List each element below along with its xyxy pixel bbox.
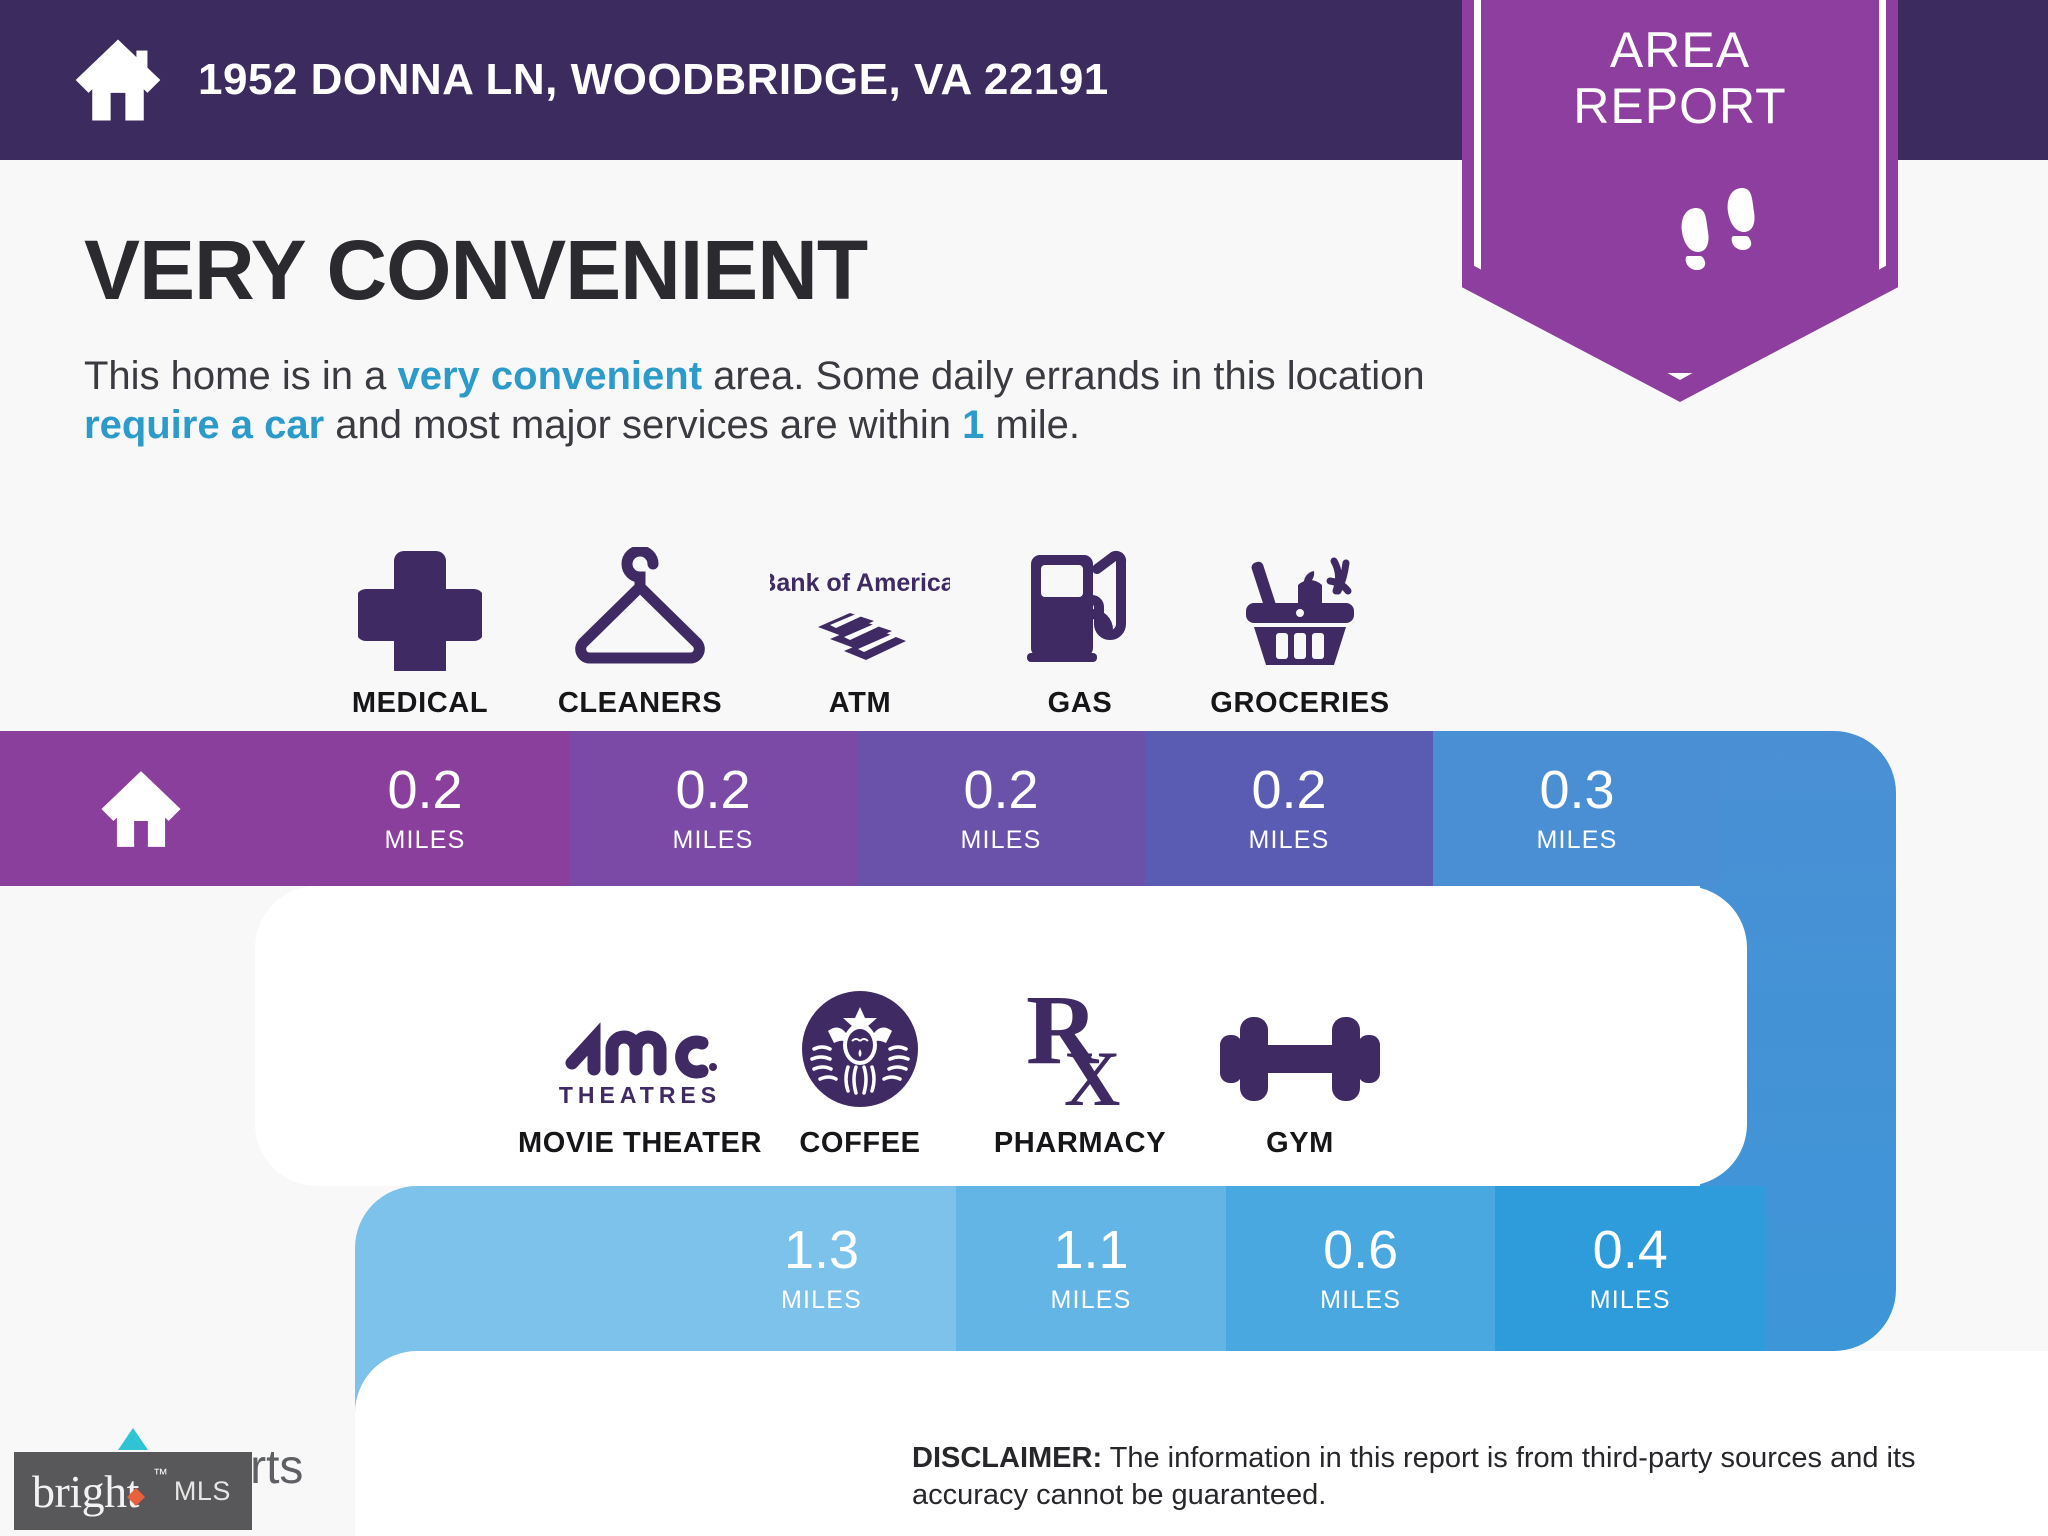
distance-cell-spacer — [565, 1186, 687, 1351]
distance-unit: MILES — [1248, 826, 1329, 855]
category-label: GROCERIES — [1210, 687, 1389, 720]
distance-value: 1.3 — [784, 1223, 859, 1277]
svg-text:Bank of America.: Bank of America. — [770, 569, 950, 597]
row1-icon-headers: MEDICAL CLEANERS Bank of America. — [0, 520, 1860, 720]
summary-paragraph: This home is in a very convenient area. … — [84, 352, 1484, 450]
distance-unit: MILES — [672, 826, 753, 855]
distance-cell-atm: 0.2 MILES — [857, 731, 1145, 886]
category-label: MEDICAL — [352, 687, 488, 720]
distance-cell-coffee: 1.1 MILES — [956, 1186, 1226, 1351]
distance-value: 0.3 — [1539, 763, 1614, 817]
distance-cell-medical: 0.2 MILES — [281, 731, 569, 886]
footprints-icon — [1662, 178, 1782, 274]
category-header-gym: GYM — [1156, 960, 1444, 1160]
home-icon — [72, 34, 164, 126]
distance-unit: MILES — [1536, 826, 1617, 855]
gas-pump-icon — [1015, 541, 1145, 671]
distance-bar-row-1: 0.2 MILES 0.2 MILES 0.2 MILES 0.2 MILES … — [0, 731, 1896, 886]
area-report-page: 1952 DONNA LN, WOODBRIDGE, VA 22191 AREA… — [0, 0, 2048, 1536]
distance-cell-movie-theater: 1.3 MILES — [687, 1186, 957, 1351]
bright-mls-accent-triangle — [118, 1428, 148, 1450]
distance-unit: MILES — [781, 1286, 862, 1315]
badge-line-1: AREA — [1462, 22, 1898, 78]
summary-highlight-2: require a car — [84, 403, 324, 447]
summary-part-2: area. Some daily errands in this locatio… — [702, 354, 1425, 398]
distance-bar-2-left-cap — [355, 1186, 595, 1351]
home-icon — [98, 766, 184, 852]
logo-bright-text: bright — [32, 1465, 139, 1518]
distance-value: 0.2 — [963, 763, 1038, 817]
category-header-groceries: GROCERIES — [1156, 520, 1444, 720]
dumbbell-icon — [1210, 981, 1390, 1111]
category-label: CLEANERS — [558, 687, 722, 720]
bright-mls-logo: bright ™ MLS — [14, 1452, 252, 1530]
category-label: ATM — [829, 687, 891, 720]
category-label: GAS — [1048, 687, 1113, 720]
medical-cross-icon — [358, 541, 482, 671]
distance-cell-cleaners: 0.2 MILES — [569, 731, 857, 886]
property-address: 1952 DONNA LN, WOODBRIDGE, VA 22191 — [198, 55, 1109, 105]
distance-cell-groceries: 0.3 MILES — [1433, 731, 1721, 886]
badge-line-2: REPORT — [1462, 78, 1898, 134]
distance-value: 1.1 — [1054, 1223, 1129, 1277]
category-label: PHARMACY — [994, 1127, 1166, 1160]
distance-unit: MILES — [384, 826, 465, 855]
distance-value: 0.4 — [1593, 1223, 1668, 1277]
bar-home-cell — [0, 731, 281, 886]
rx-icon: R X — [1020, 981, 1140, 1111]
logo-trademark: ™ — [153, 1466, 168, 1483]
category-label: COFFEE — [799, 1127, 920, 1160]
logo-diamond-icon — [127, 1479, 145, 1497]
distance-value: 0.2 — [675, 763, 750, 817]
row2-icon-headers: THEATRES MOVIE THEATER — [0, 960, 1860, 1160]
disclaimer-label: DISCLAIMER: — [912, 1442, 1102, 1474]
summary-highlight-3: 1 — [962, 403, 984, 447]
disclaimer-text: DISCLAIMER: The information in this repo… — [912, 1440, 2022, 1513]
distance-unit: MILES — [1051, 1286, 1132, 1315]
grocery-basket-icon — [1230, 541, 1370, 671]
svg-text:THEATRES: THEATRES — [559, 1082, 721, 1108]
clothes-hanger-icon — [565, 541, 715, 671]
category-label: GYM — [1266, 1127, 1334, 1160]
summary-part-4: mile. — [984, 403, 1080, 447]
summary-part-3: and most major services are within — [324, 403, 962, 447]
distance-bar-row-2: 1.3 MILES 1.1 MILES 0.6 MILES 0.4 MILES — [565, 1186, 1765, 1351]
distance-value: 0.2 — [387, 763, 462, 817]
summary-part-1: This home is in a — [84, 354, 397, 398]
badge-text-block: AREA REPORT — [1462, 22, 1898, 134]
logo-mls-text: MLS — [174, 1476, 231, 1507]
distance-value: 0.2 — [1251, 763, 1326, 817]
bank-of-america-logo: Bank of America. — [770, 541, 950, 671]
starbucks-logo — [798, 981, 922, 1111]
summary-highlight-1: very convenient — [397, 354, 702, 398]
amc-theatres-logo: THEATRES — [550, 981, 730, 1111]
distance-value: 0.6 — [1323, 1223, 1398, 1277]
distance-cell-gas: 0.2 MILES — [1145, 731, 1433, 886]
distance-cell-pharmacy: 0.6 MILES — [1226, 1186, 1496, 1351]
distance-unit: MILES — [960, 826, 1041, 855]
distance-unit: MILES — [1320, 1286, 1401, 1315]
distance-unit: MILES — [1590, 1286, 1671, 1315]
distance-cell-gym: 0.4 MILES — [1495, 1186, 1765, 1351]
svg-text:X: X — [1064, 1035, 1120, 1111]
page-title: VERY CONVENIENT — [84, 222, 867, 319]
